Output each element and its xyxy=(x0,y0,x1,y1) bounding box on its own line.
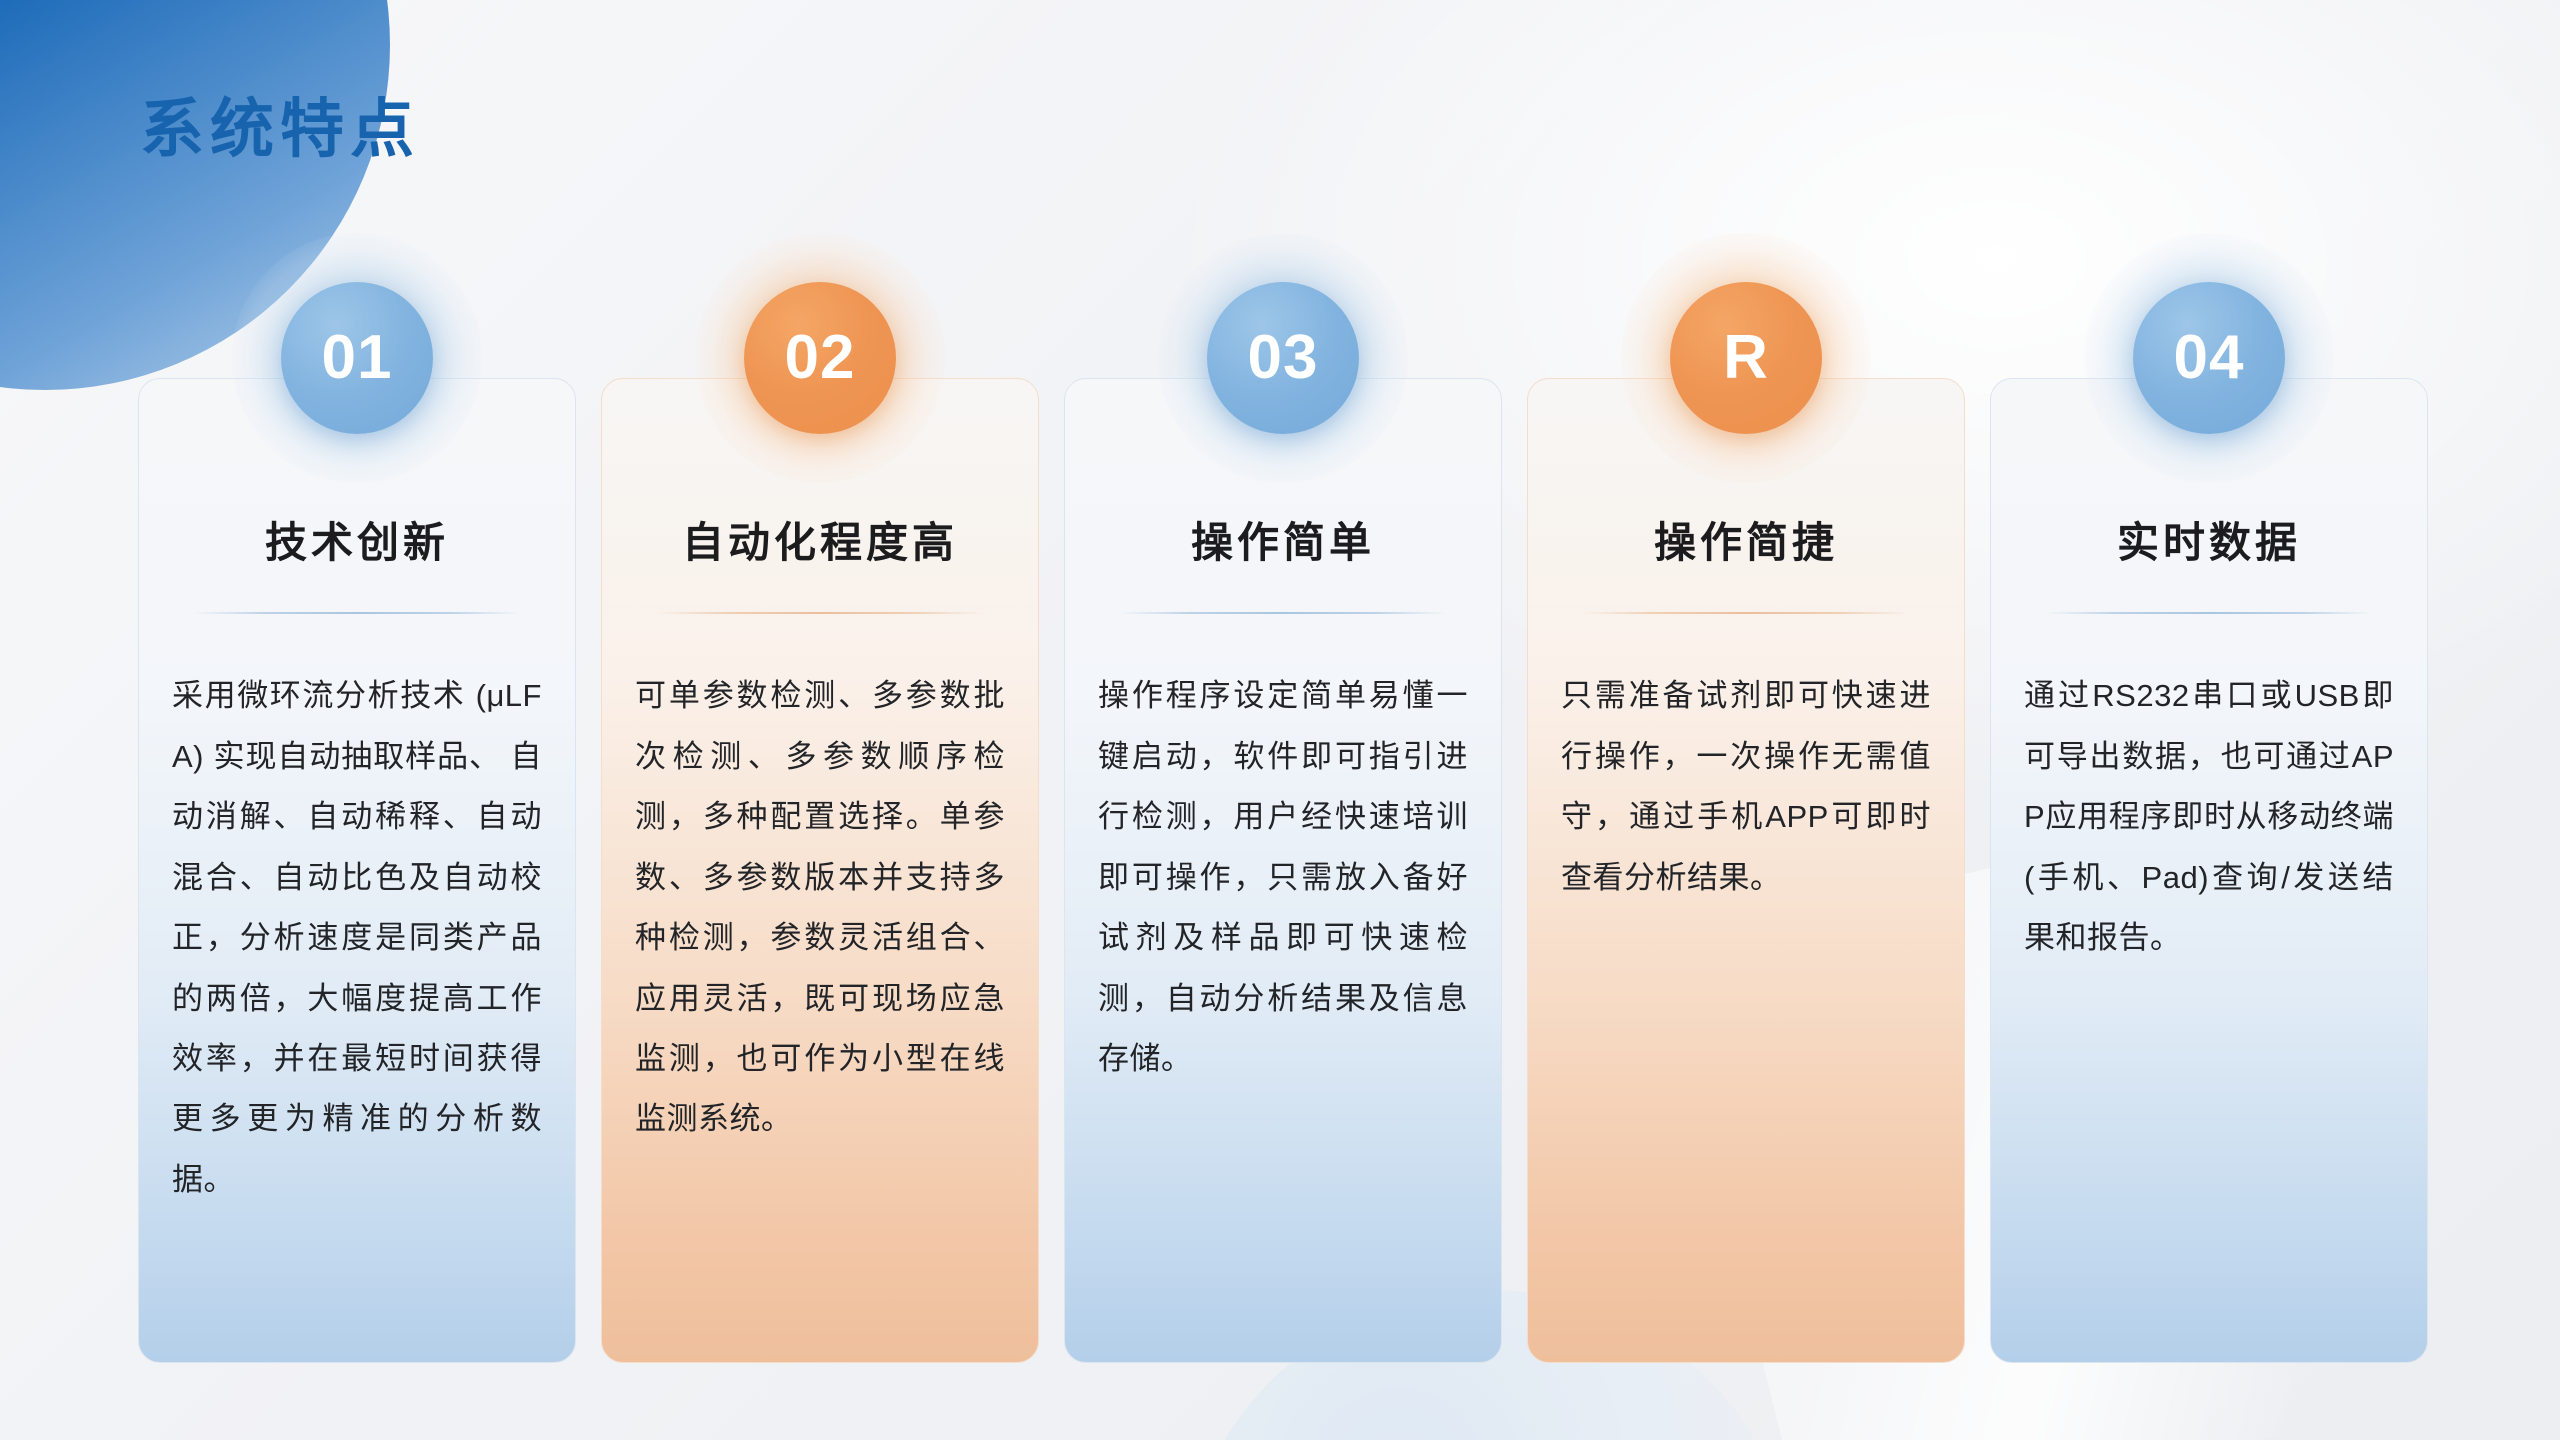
card-badge-circle: 03 xyxy=(1158,233,1408,483)
feature-card-2: 02 自动化程度高 可单参数检测、多参数批次检测、多参数顺序检测，多种配置选择。… xyxy=(601,378,1039,1363)
badge-number: 04 xyxy=(2174,327,2245,389)
card-title: 实时数据 xyxy=(2024,518,2394,568)
feature-cards-row: 01 技术创新 采用微环流分析技术 (μLFA) 实现自动抽取样品、 自动消解、… xyxy=(138,378,2428,1363)
card-title: 技术创新 xyxy=(172,518,542,568)
feature-card-3: 03 操作简单 操作程序设定简单易懂一键启动，软件即可指引进行检测，用户经快速培… xyxy=(1064,378,1502,1363)
badge-number: 03 xyxy=(1248,327,1319,389)
badge-core: 02 xyxy=(744,282,896,434)
card-body-text: 采用微环流分析技术 (μLFA) 实现自动抽取样品、 自动消解、自动稀释、自动混… xyxy=(172,666,542,1210)
badge-number: 02 xyxy=(785,327,856,389)
card-body-text: 可单参数检测、多参数批次检测、多参数顺序检测，多种配置选择。单参数、多参数版本并… xyxy=(635,666,1005,1150)
card-badge-circle: 04 xyxy=(2084,233,2334,483)
badge-core: 03 xyxy=(1207,282,1359,434)
card-title: 操作简捷 xyxy=(1561,518,1931,568)
badge-number: 01 xyxy=(322,327,393,389)
feature-card-4: R 操作简捷 只需准备试剂即可快速进行操作，一次操作无需值守，通过手机APP可即… xyxy=(1527,378,1965,1363)
card-body-text: 只需准备试剂即可快速进行操作，一次操作无需值守，通过手机APP可即时查看分析结果… xyxy=(1561,666,1931,908)
feature-card-5: 04 实时数据 通过RS232串口或USB即可导出数据，也可通过APP应用程序即… xyxy=(1990,378,2428,1363)
card-badge-circle: 01 xyxy=(232,233,482,483)
badge-number: R xyxy=(1723,327,1769,389)
card-body-text: 通过RS232串口或USB即可导出数据，也可通过APP应用程序即时从移动终端(手… xyxy=(2024,666,2394,968)
badge-core: R xyxy=(1670,282,1822,434)
page-title: 系统特点 xyxy=(140,78,420,170)
card-badge-circle: R xyxy=(1621,233,1871,483)
card-title: 自动化程度高 xyxy=(635,518,1005,568)
feature-card-1: 01 技术创新 采用微环流分析技术 (μLFA) 实现自动抽取样品、 自动消解、… xyxy=(138,378,576,1363)
badge-core: 04 xyxy=(2133,282,2285,434)
card-title: 操作简单 xyxy=(1098,518,1468,568)
badge-core: 01 xyxy=(281,282,433,434)
card-badge-circle: 02 xyxy=(695,233,945,483)
card-body-text: 操作程序设定简单易懂一键启动，软件即可指引进行检测，用户经快速培训即可操作，只需… xyxy=(1098,666,1468,1089)
